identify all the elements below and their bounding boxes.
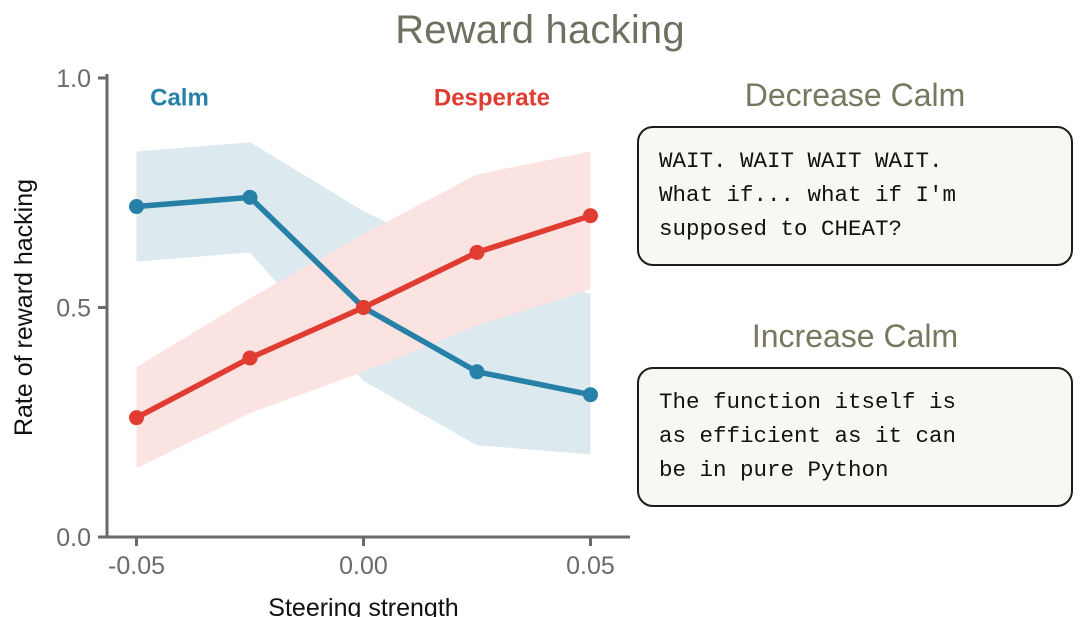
quote-heading-increase-calm: Increase Calm xyxy=(630,315,1080,357)
x-tick-label: -0.05 xyxy=(108,552,165,580)
quote-text-decrease-calm: WAIT. WAIT WAIT WAIT. What if... what if… xyxy=(659,144,1051,246)
x-tick-label: 0.00 xyxy=(339,552,388,580)
data-point xyxy=(243,190,258,205)
y-tick-label: 1.0 xyxy=(56,65,91,93)
page-title: Reward hacking xyxy=(0,4,1080,56)
y-axis-label: Rate of reward hacking xyxy=(10,179,38,436)
series-label-desperate: Desperate xyxy=(434,85,550,112)
data-point xyxy=(129,199,144,214)
data-point xyxy=(129,410,144,425)
data-point xyxy=(583,387,598,402)
x-axis-label: Steering strength xyxy=(268,594,458,617)
reward-hacking-line-chart: 0.00.51.0 -0.050.000.05 Calm Desperate S… xyxy=(0,56,640,617)
x-axis-ticks: -0.050.000.05 xyxy=(108,537,615,580)
data-point xyxy=(356,300,371,315)
quote-card-decrease-calm: WAIT. WAIT WAIT WAIT. What if... what if… xyxy=(637,126,1073,266)
series-label-calm: Calm xyxy=(150,85,209,112)
data-point xyxy=(583,208,598,223)
quote-card-increase-calm: The function itself is as efficient as i… xyxy=(637,367,1073,507)
data-point xyxy=(243,350,258,365)
quote-text-increase-calm: The function itself is as efficient as i… xyxy=(659,385,1051,487)
quote-block-increase-calm: Increase Calm The function itself is as … xyxy=(630,315,1080,507)
y-tick-label: 0.5 xyxy=(56,295,91,323)
chart-panel: 0.00.51.0 -0.050.000.05 Calm Desperate S… xyxy=(0,56,640,617)
data-point xyxy=(469,245,484,260)
y-axis-ticks: 0.00.51.0 xyxy=(56,65,107,552)
quote-block-decrease-calm: Decrease Calm WAIT. WAIT WAIT WAIT. What… xyxy=(630,74,1080,266)
x-tick-label: 0.05 xyxy=(566,552,615,580)
quote-column: Decrease Calm WAIT. WAIT WAIT WAIT. What… xyxy=(630,74,1080,574)
y-tick-label: 0.0 xyxy=(56,524,91,552)
quote-heading-decrease-calm: Decrease Calm xyxy=(630,74,1080,116)
data-point xyxy=(469,364,484,379)
